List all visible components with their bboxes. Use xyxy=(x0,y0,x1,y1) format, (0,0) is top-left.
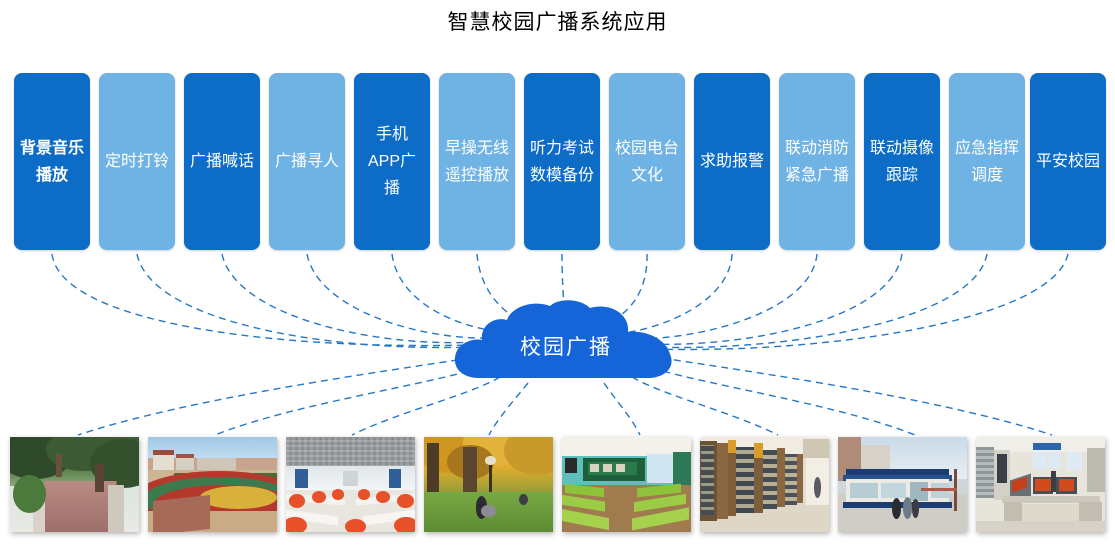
app-box-5[interactable]: 手机APP广播 xyxy=(354,73,430,250)
app-box-1[interactable]: 背景音乐播放 xyxy=(14,73,90,250)
photo-campus-walkway xyxy=(10,437,139,532)
photo-library xyxy=(700,437,829,532)
cloud-icon xyxy=(452,300,680,386)
app-box-9[interactable]: 求助报警 xyxy=(694,73,770,250)
app-box-13[interactable]: 平安校园 xyxy=(1030,73,1106,250)
diagram-canvas: 智慧校园广播系统应用 背 xyxy=(0,0,1115,545)
app-box-3[interactable]: 广播喊话 xyxy=(184,73,260,250)
photo-control-room xyxy=(976,437,1105,532)
app-box-label: 广播喊话 xyxy=(190,148,254,175)
app-box-6[interactable]: 早操无线遥控播放 xyxy=(439,73,515,250)
app-box-label: 联动摄像跟踪 xyxy=(870,135,934,189)
app-box-7[interactable]: 听力考试数模备份 xyxy=(524,73,600,250)
app-box-label: 手机APP广播 xyxy=(360,121,424,202)
app-box-label: 广播寻人 xyxy=(275,148,339,175)
app-box-label: 校园电台文化 xyxy=(615,135,679,189)
photo-sports-track xyxy=(148,437,277,532)
app-box-4[interactable]: 广播寻人 xyxy=(269,73,345,250)
app-box-8[interactable]: 校园电台文化 xyxy=(609,73,685,250)
app-box-label: 求助报警 xyxy=(700,148,764,175)
app-box-label: 定时打铃 xyxy=(105,148,169,175)
photo-dining-hall xyxy=(286,437,415,532)
photo-security-gatehouse xyxy=(838,437,967,532)
app-box-label: 听力考试数模备份 xyxy=(530,135,594,189)
central-cloud-node[interactable]: 校园广播 xyxy=(452,300,680,386)
app-box-label: 早操无线遥控播放 xyxy=(445,135,509,189)
app-box-2[interactable]: 定时打铃 xyxy=(99,73,175,250)
photo-autumn-lawn xyxy=(424,437,553,532)
photo-classroom xyxy=(562,437,691,532)
app-box-label: 应急指挥调度 xyxy=(955,135,1019,189)
app-box-11[interactable]: 联动摄像跟踪 xyxy=(864,73,940,250)
app-box-10[interactable]: 联动消防紧急广播 xyxy=(779,73,855,250)
app-box-label: 平安校园 xyxy=(1036,148,1100,175)
app-box-label: 背景音乐播放 xyxy=(20,135,84,189)
app-box-12[interactable]: 应急指挥调度 xyxy=(949,73,1025,250)
app-box-label: 联动消防紧急广播 xyxy=(785,135,849,189)
